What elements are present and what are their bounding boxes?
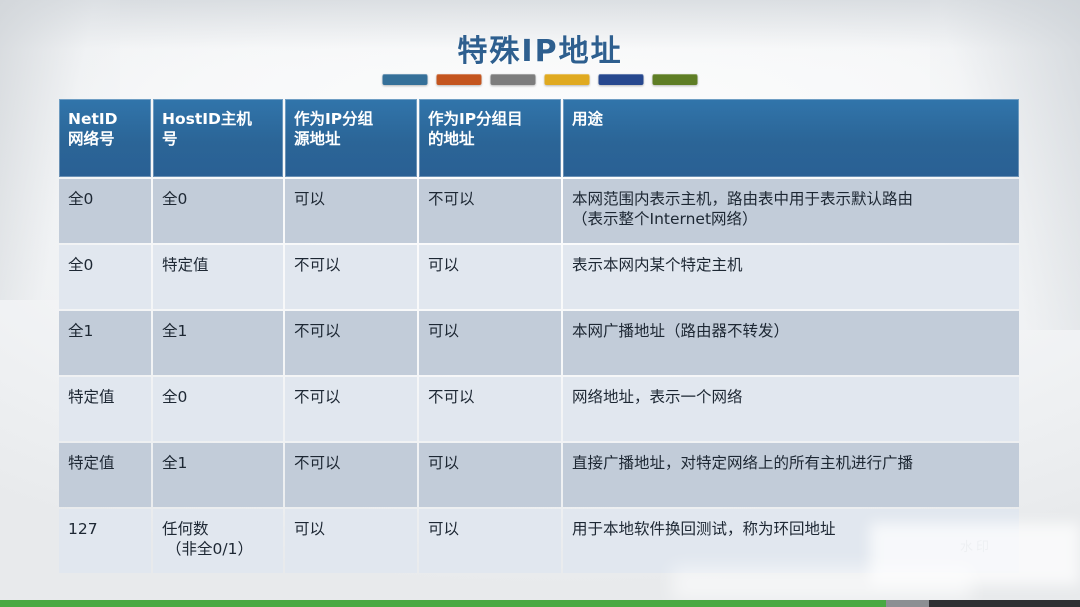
cell-line: 全0: [68, 255, 142, 275]
cell-line: 可以: [428, 453, 552, 473]
cell-netid: 127: [59, 509, 151, 573]
cell-line: （非全0/1）: [162, 539, 274, 559]
title-accent-bars: [383, 74, 698, 85]
cell-usage: 本网广播地址（路由器不转发）: [563, 311, 1019, 375]
cell-as-destination-address: 不可以: [419, 377, 561, 441]
cell-as-source-address: 不可以: [285, 377, 417, 441]
video-progress-buffer: [886, 600, 929, 607]
slide-title: 特殊IP地址: [0, 26, 1080, 70]
cell-line: 可以: [294, 519, 408, 539]
accent-bar-2: [437, 74, 482, 85]
cell-netid: 全0: [59, 179, 151, 243]
table-header: NetID网络号HostID主机号作为IP分组源地址作为IP分组目的地址用途: [59, 99, 1019, 177]
cell-line: 127: [68, 519, 142, 539]
table-header-cell-1: NetID网络号: [59, 99, 151, 177]
header-cell-line: 网络号: [68, 129, 142, 149]
header-cell-line: 作为IP分组: [294, 109, 408, 129]
cell-line: 不可以: [428, 387, 552, 407]
cell-line: （表示整个Internet网络）: [572, 209, 1010, 229]
header-cell-line: NetID: [68, 109, 142, 129]
cell-as-destination-address: 可以: [419, 443, 561, 507]
cell-line: 用于本地软件换回测试，称为环回地址: [572, 519, 1010, 539]
table-header-cell-5: 用途: [563, 99, 1019, 177]
cell-netid: 特定值: [59, 443, 151, 507]
cell-line: 不可以: [294, 321, 408, 341]
cell-line: 直接广播地址，对特定网络上的所有主机进行广播: [572, 453, 1010, 473]
special-ip-address-table-container: NetID网络号HostID主机号作为IP分组源地址作为IP分组目的地址用途 全…: [57, 97, 1013, 575]
cell-hostid: 全0: [153, 377, 283, 441]
accent-bar-4: [545, 74, 590, 85]
cell-netid: 全1: [59, 311, 151, 375]
cell-hostid: 任何数（非全0/1）: [153, 509, 283, 573]
table-row: 全0特定值不可以可以表示本网内某个特定主机: [59, 245, 1019, 309]
table-row: 特定值全0不可以不可以网络地址，表示一个网络: [59, 377, 1019, 441]
cell-line: 特定值: [162, 255, 274, 275]
table-row: 全0全0可以不可以本网范围内表示主机，路由表中用于表示默认路由（表示整个Inte…: [59, 179, 1019, 243]
cell-hostid: 全0: [153, 179, 283, 243]
slide-canvas: 特殊IP地址 NetID网络号HostID主机号作为IP分组源地址作为IP分组目…: [0, 0, 1080, 607]
cell-line: 可以: [428, 519, 552, 539]
cell-line: 全0: [68, 189, 142, 209]
table-row: 127任何数（非全0/1）可以可以用于本地软件换回测试，称为环回地址: [59, 509, 1019, 573]
cell-line: 表示本网内某个特定主机: [572, 255, 1010, 275]
cell-line: 全0: [162, 189, 274, 209]
accent-bar-1: [383, 74, 428, 85]
cell-usage: 直接广播地址，对特定网络上的所有主机进行广播: [563, 443, 1019, 507]
cell-line: 不可以: [294, 453, 408, 473]
table-header-cell-4: 作为IP分组目的地址: [419, 99, 561, 177]
cell-line: 特定值: [68, 387, 142, 407]
cell-as-source-address: 不可以: [285, 443, 417, 507]
table-body: 全0全0可以不可以本网范围内表示主机，路由表中用于表示默认路由（表示整个Inte…: [59, 179, 1019, 573]
cell-line: 全1: [162, 321, 274, 341]
cell-line: 本网范围内表示主机，路由表中用于表示默认路由: [572, 189, 1010, 209]
cell-as-destination-address: 可以: [419, 245, 561, 309]
cell-line: 不可以: [428, 189, 552, 209]
header-cell-line: 用途: [572, 109, 1010, 129]
cell-line: 不可以: [294, 387, 408, 407]
table-header-cell-2: HostID主机号: [153, 99, 283, 177]
cell-usage: 网络地址，表示一个网络: [563, 377, 1019, 441]
cell-netid: 全0: [59, 245, 151, 309]
cell-hostid: 全1: [153, 443, 283, 507]
cell-line: 可以: [428, 321, 552, 341]
cell-as-destination-address: 可以: [419, 509, 561, 573]
accent-bar-3: [491, 74, 536, 85]
table-header-cell-3: 作为IP分组源地址: [285, 99, 417, 177]
cell-line: 不可以: [294, 255, 408, 275]
header-cell-line: 号: [162, 129, 274, 149]
special-ip-address-table: NetID网络号HostID主机号作为IP分组源地址作为IP分组目的地址用途 全…: [57, 97, 1021, 575]
header-cell-line: 源地址: [294, 129, 408, 149]
cell-line: 全1: [68, 321, 142, 341]
accent-bar-5: [599, 74, 644, 85]
cell-line: 网络地址，表示一个网络: [572, 387, 1010, 407]
cell-line: 可以: [428, 255, 552, 275]
cell-usage: 用于本地软件换回测试，称为环回地址: [563, 509, 1019, 573]
cell-as-source-address: 可以: [285, 179, 417, 243]
header-cell-line: HostID主机: [162, 109, 274, 129]
cell-netid: 特定值: [59, 377, 151, 441]
cell-line: 全0: [162, 387, 274, 407]
cell-as-source-address: 不可以: [285, 245, 417, 309]
cell-hostid: 特定值: [153, 245, 283, 309]
cell-usage: 本网范围内表示主机，路由表中用于表示默认路由（表示整个Internet网络）: [563, 179, 1019, 243]
header-cell-line: 作为IP分组目: [428, 109, 552, 129]
table-row: 全1全1不可以可以本网广播地址（路由器不转发）: [59, 311, 1019, 375]
cell-as-destination-address: 不可以: [419, 179, 561, 243]
header-cell-line: 的地址: [428, 129, 552, 149]
table-header-row: NetID网络号HostID主机号作为IP分组源地址作为IP分组目的地址用途: [59, 99, 1019, 177]
cell-as-source-address: 可以: [285, 509, 417, 573]
cell-usage: 表示本网内某个特定主机: [563, 245, 1019, 309]
cell-line: 特定值: [68, 453, 142, 473]
cell-line: 全1: [162, 453, 274, 473]
cell-as-source-address: 不可以: [285, 311, 417, 375]
cell-line: 任何数: [162, 519, 274, 539]
table-row: 特定值全1不可以可以直接广播地址，对特定网络上的所有主机进行广播: [59, 443, 1019, 507]
video-progress-track[interactable]: [0, 600, 1080, 607]
video-progress-played: [0, 600, 886, 607]
cell-hostid: 全1: [153, 311, 283, 375]
cell-line: 可以: [294, 189, 408, 209]
cell-as-destination-address: 可以: [419, 311, 561, 375]
accent-bar-6: [653, 74, 698, 85]
cell-line: 本网广播地址（路由器不转发）: [572, 321, 1010, 341]
